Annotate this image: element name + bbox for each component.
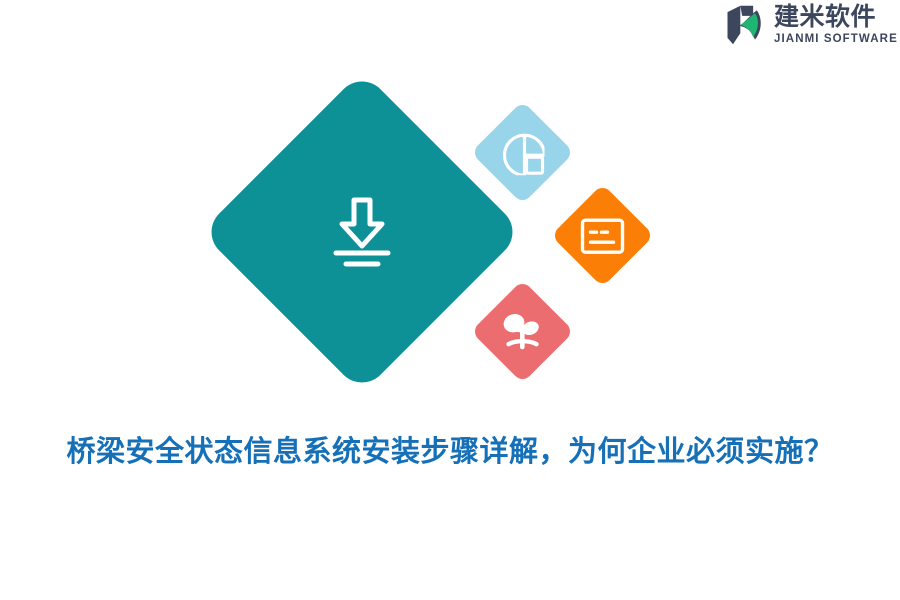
diamond-sprout	[471, 280, 574, 383]
brand-text-block: 建米软件 JIANMI SOFTWARE	[774, 4, 898, 46]
page-title: 桥梁安全状态信息系统安装步骤详解，为何企业必须实施？	[0, 428, 900, 470]
brand-name-en: JIANMI SOFTWARE	[774, 34, 898, 46]
sprout-icon	[500, 310, 546, 354]
jianmi-leaf-hexagon-logo-icon	[722, 3, 766, 47]
diamond-download	[201, 71, 523, 393]
hero-illustration	[0, 60, 900, 410]
pie-chart-icon	[501, 131, 545, 175]
diamond-form-card	[551, 184, 654, 287]
diamond-pie-chart	[471, 101, 574, 204]
download-icon	[324, 194, 400, 270]
form-card-icon	[580, 216, 626, 256]
brand-logo[interactable]: 建米软件 JIANMI SOFTWARE	[722, 0, 900, 50]
brand-name-cn: 建米软件	[774, 4, 898, 29]
